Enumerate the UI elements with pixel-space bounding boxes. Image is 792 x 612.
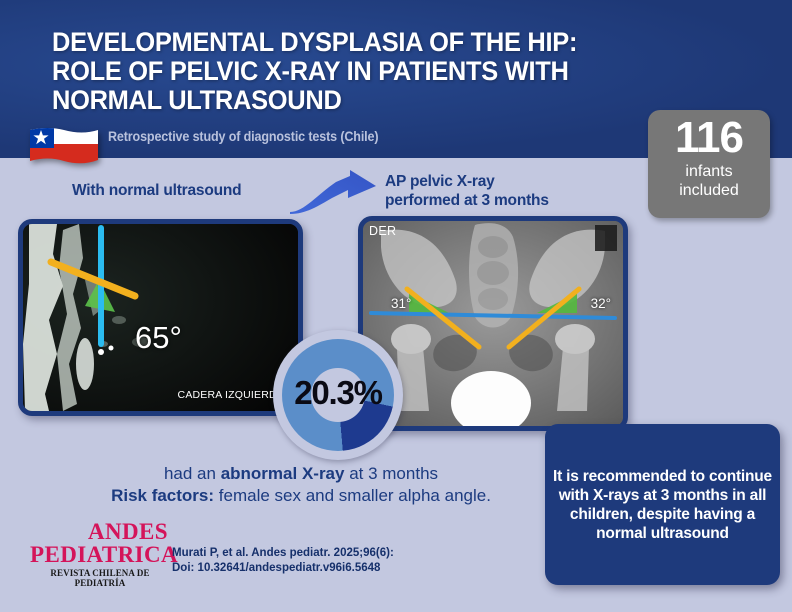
recommendation-box: It is recommended to continue with X-ray… <box>545 424 780 585</box>
journal-logo-line1: ANDES <box>30 520 170 543</box>
citation: Murati P, et al. Andes pediatr. 2025;96(… <box>172 546 394 576</box>
xray-section-label: AP pelvic X-ray performed at 3 months <box>385 172 549 210</box>
ultrasound-section-label: With normal ultrasound <box>72 182 241 200</box>
xray-label-line2: performed at 3 months <box>385 191 549 210</box>
recommendation-text: It is recommended to continue with X-ray… <box>545 467 780 543</box>
abnormal-xray-donut-chart: 20.3% <box>273 330 403 460</box>
ultrasound-alpha-angle-label: 65° <box>135 320 182 356</box>
chile-flag-icon <box>28 126 100 172</box>
findings-line1: had an abnormal X-ray at 3 months <box>66 463 536 485</box>
donut-center-label: 20.3% <box>273 374 403 412</box>
findings-line1-post: at 3 months <box>344 464 438 483</box>
header-subtitle: Retrospective study of diagnostic tests … <box>108 129 378 144</box>
findings-line1-pre: had an <box>164 464 221 483</box>
citation-line2: Doi: 10.32641/andespediatr.v96i6.5648 <box>172 561 394 576</box>
infants-included-badge: 116 infants included <box>648 110 770 218</box>
page-title: DEVELOPMENTAL DYSPLASIA OF THE HIP: ROLE… <box>52 28 638 115</box>
ultrasound-image-panel: 65° CADERA IZQUIERDA <box>18 219 303 416</box>
journal-logo-line2: PEDIATRICA <box>30 543 170 566</box>
ultrasound-image <box>23 224 298 411</box>
findings-line2-post: female sex and smaller alpha angle. <box>214 486 491 505</box>
infographic-poster: DEVELOPMENTAL DYSPLASIA OF THE HIP: ROLE… <box>0 0 792 612</box>
journal-logo-line3: REVISTA CHILENA DE PEDIATRÍA <box>30 568 170 588</box>
xray-label-line1: AP pelvic X-ray <box>385 172 549 191</box>
xray-side-marker: DER <box>369 224 396 238</box>
findings-line2-bold: Risk factors: <box>111 486 214 505</box>
findings-line1-bold: abnormal X-ray <box>221 464 345 483</box>
badge-number: 116 <box>648 114 770 162</box>
curved-arrow-right-icon <box>288 168 380 216</box>
xray-angle-left-label: 31° <box>391 296 411 311</box>
xray-angle-right-label: 32° <box>591 296 611 311</box>
badge-label-line2: included <box>648 181 770 200</box>
findings-line2: Risk factors: female sex and smaller alp… <box>66 485 536 507</box>
ultrasound-caption: CADERA IZQUIERDA <box>178 389 284 401</box>
badge-label-line1: infants <box>648 162 770 181</box>
findings-text: had an abnormal X-ray at 3 months Risk f… <box>66 463 536 507</box>
citation-line1: Murati P, et al. Andes pediatr. 2025;96(… <box>172 546 394 561</box>
journal-logo: ANDES PEDIATRICA REVISTA CHILENA DE PEDI… <box>30 520 170 588</box>
